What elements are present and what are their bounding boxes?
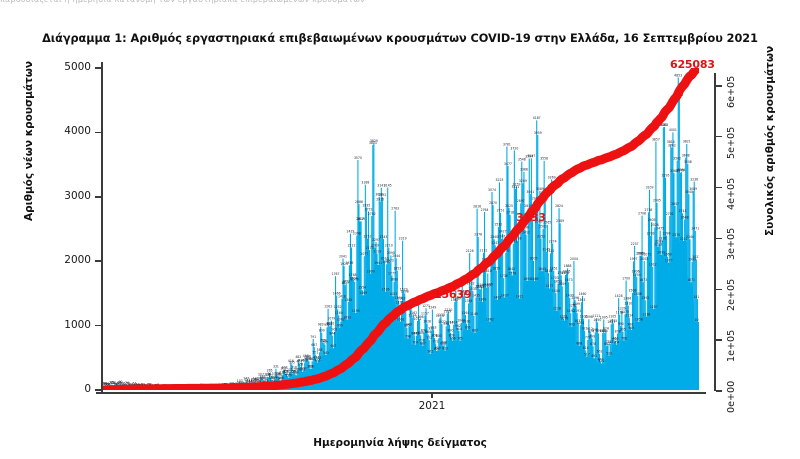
x-tick-label: 2021 (419, 400, 446, 412)
y-tick-label-left: 5000 (31, 61, 91, 73)
x-tick (431, 392, 433, 398)
y-tick-label-right: 3e+05 (726, 228, 737, 260)
x-axis-spine (96, 392, 706, 394)
cumulative-annotation-3: 625083 (670, 58, 715, 71)
y-tick-label-left-wrap: 3000 (31, 190, 91, 202)
y-tick-right (716, 390, 722, 392)
y-tick-left (95, 196, 101, 198)
y-axis-left-title: Αριθμός νέων κρουσμάτων (23, 91, 35, 221)
y-tick-label-right: 1e+05 (726, 330, 737, 362)
y-tick-right (716, 136, 722, 138)
y-tick-label-left-wrap: 1000 (31, 319, 91, 331)
y-axis-left-spine (101, 62, 103, 394)
y-tick-left (95, 389, 101, 391)
y-tick-right (716, 85, 722, 87)
x-axis-title: Ημερομηνία λήψης δείγματος (0, 437, 800, 449)
y-tick-label-left: 4000 (31, 125, 91, 137)
document-text-crop: παρουσιάζεται η ημερήσια κατανομή των ερ… (0, 0, 800, 12)
y-tick-label-right: 2e+05 (726, 279, 737, 311)
y-tick-label-left: 2000 (31, 254, 91, 266)
y-tick-right (716, 187, 722, 189)
y-tick-label-left-wrap: 4000 (31, 125, 91, 137)
chart-title: Διάγραμμα 1: Αριθμός εργαστηριακά επιβεβ… (0, 32, 800, 45)
y-tick-label-right: 4e+05 (726, 177, 737, 209)
y-tick-label-right: 0e+00 (726, 381, 737, 413)
y-axis-right-spine (714, 73, 716, 391)
y-tick-label-right: 6e+05 (726, 75, 737, 107)
y-tick-label-left: 1000 (31, 319, 91, 331)
y-tick-label-left-wrap: 2000 (31, 254, 91, 266)
y-tick-label-right: 5e+05 (726, 126, 737, 158)
y-tick-right (716, 289, 722, 291)
y-tick-left (95, 132, 101, 134)
cumulative-annotation-1: 15639 (434, 288, 471, 301)
chart-page: παρουσιάζεται η ημερήσια κατανομή των ερ… (0, 0, 800, 459)
y-tick-right (716, 339, 722, 341)
y-tick-label-left: 0 (31, 383, 91, 395)
plot-area (103, 68, 699, 390)
plot-clip (103, 68, 699, 390)
y-tick-right (716, 238, 722, 240)
cumulative-annotation-2: 3133 (516, 211, 546, 224)
y-axis-right-title: Συνολικός αριθμός κρουσμάτων (764, 86, 776, 236)
y-tick-label-left-wrap: 5000 (31, 61, 91, 73)
y-tick-left (95, 325, 101, 327)
y-tick-left (95, 67, 101, 69)
y-tick-label-left-wrap: 0 (31, 383, 91, 395)
chart-canvas (103, 68, 699, 390)
document-crop-text: παρουσιάζεται η ημερήσια κατανομή των ερ… (0, 0, 365, 4)
y-tick-label-left: 3000 (31, 190, 91, 202)
y-tick-left (95, 260, 101, 262)
